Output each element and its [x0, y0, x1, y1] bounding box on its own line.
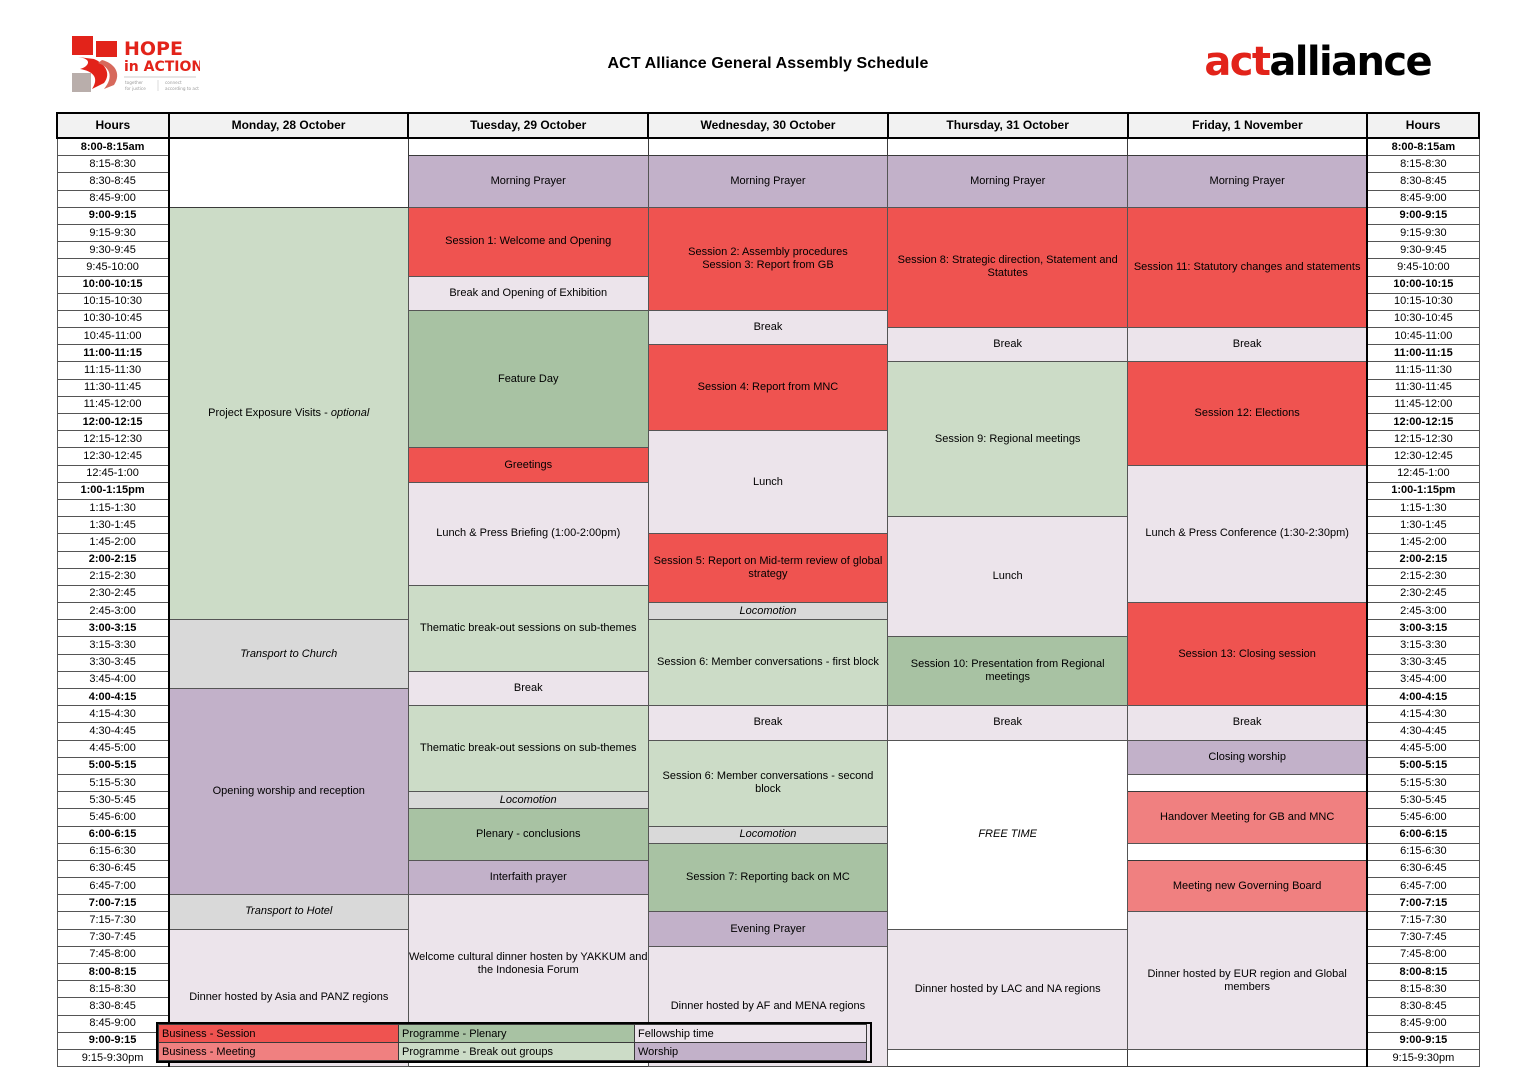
hour-label-right: 11:45-12:00 [1367, 396, 1479, 413]
event-cell[interactable]: Session 10: Presentation from Regional m… [888, 637, 1128, 706]
event-label: Interfaith prayer [409, 871, 648, 884]
hour-label-left: 3:00-3:15 [57, 620, 169, 637]
event-cell[interactable]: Opening worship and reception [169, 689, 409, 895]
event-label: Break [649, 321, 888, 334]
event-label: Thematic break-out sessions on sub-theme… [409, 742, 648, 755]
schedule-row: 8:00-8:15am8:00-8:15am [57, 138, 1479, 156]
hour-label-left: 5:30-5:45 [57, 792, 169, 809]
hour-label-right: 11:00-11:15 [1367, 345, 1479, 362]
legend-item-business-session: Business - Session [159, 1025, 399, 1043]
hour-label-left: 7:15-7:30 [57, 912, 169, 929]
hour-label-left: 7:45-8:00 [57, 946, 169, 963]
legend-item-programme-breakout: Programme - Break out groups [399, 1043, 635, 1061]
event-cell[interactable]: Locomotion [648, 826, 888, 843]
hour-label-right: 6:15-6:30 [1367, 843, 1479, 860]
empty-cell [408, 138, 648, 156]
event-label: Greetings [409, 459, 648, 472]
event-label: Morning Prayer [1128, 175, 1366, 188]
hour-label-left: 11:00-11:15 [57, 345, 169, 362]
hour-label-left: 11:30-11:45 [57, 379, 169, 396]
event-label: Session 1: Welcome and Opening [409, 235, 648, 248]
hour-label-left: 11:15-11:30 [57, 362, 169, 379]
hour-label-left: 3:15-3:30 [57, 637, 169, 654]
event-label: Session 6: Member conversations - second… [649, 770, 888, 796]
event-cell[interactable]: Thematic break-out sessions on sub-theme… [408, 585, 648, 671]
event-cell[interactable]: Handover Meeting for GB and MNC [1128, 792, 1368, 844]
hour-label-right: 1:45-2:00 [1367, 534, 1479, 551]
event-cell[interactable]: Session 4: Report from MNC [648, 345, 888, 431]
hour-label-left: 4:15-4:30 [57, 706, 169, 723]
hour-label-left: 10:45-11:00 [57, 328, 169, 345]
hour-label-right: 10:15-10:30 [1367, 293, 1479, 310]
hour-label-right: 10:00-10:15 [1367, 276, 1479, 293]
empty-cell [648, 138, 888, 156]
hour-label-left: 6:45-7:00 [57, 878, 169, 895]
event-cell[interactable]: Lunch & Press Briefing (1:00-2:00pm) [408, 482, 648, 585]
event-label: Lunch [649, 476, 888, 489]
hour-label-left: 8:45-9:00 [57, 1015, 169, 1032]
event-label: Session 4: Report from MNC [649, 381, 888, 394]
hour-label-left: 1:00-1:15pm [57, 482, 169, 499]
column-header-day-2: Tuesday, 29 October [408, 113, 648, 138]
hour-label-left: 8:00-8:15am [57, 138, 169, 156]
hour-label-right: 5:00-5:15 [1367, 757, 1479, 774]
schedule-table: HoursMonday, 28 OctoberTuesday, 29 Octob… [56, 112, 1480, 1067]
act-alliance-logo-alliance: alliance [1269, 39, 1431, 85]
event-cell[interactable]: Thematic break-out sessions on sub-theme… [408, 706, 648, 792]
event-label: Locomotion [409, 794, 648, 807]
event-cell[interactable]: Lunch [648, 431, 888, 534]
hour-label-right: 7:15-7:30 [1367, 912, 1479, 929]
event-cell[interactable]: Greetings [408, 448, 648, 482]
event-label: Transport to Church [170, 648, 408, 661]
event-cell[interactable]: Transport to Church [169, 620, 409, 689]
hour-label-right: 4:00-4:15 [1367, 689, 1479, 706]
hour-label-left: 5:45-6:00 [57, 809, 169, 826]
hour-label-left: 9:00-9:15 [57, 207, 169, 224]
event-cell[interactable]: Welcome cultural dinner hosten by YAKKUM… [408, 895, 648, 1033]
hour-label-right: 9:00-9:15 [1367, 1032, 1479, 1049]
hour-label-left: 5:00-5:15 [57, 757, 169, 774]
event-label: Locomotion [649, 605, 888, 618]
legend-item-worship: Worship [635, 1043, 867, 1061]
event-label: Session 10: Presentation from Regional m… [888, 658, 1127, 684]
hour-label-right: 8:45-9:00 [1367, 1015, 1479, 1032]
event-label: Session 2: Assembly proceduresSession 3:… [649, 246, 888, 272]
event-cell[interactable]: Session 5: Report on Mid-term review of … [648, 534, 888, 603]
hour-label-right: 2:15-2:30 [1367, 568, 1479, 585]
event-cell[interactable]: Break [888, 706, 1128, 740]
event-label: Dinner hosted by LAC and NA regions [888, 983, 1127, 996]
event-label: Transport to Hotel [170, 905, 408, 918]
legend-item-fellowship: Fellowship time [635, 1025, 867, 1043]
empty-cell [888, 1049, 1128, 1066]
hour-label-left: 6:00-6:15 [57, 826, 169, 843]
hour-label-right: 8:15-8:30 [1367, 156, 1479, 173]
event-label: FREE TIME [888, 828, 1127, 841]
hour-label-right: 2:00-2:15 [1367, 551, 1479, 568]
hour-label-left: 10:00-10:15 [57, 276, 169, 293]
hour-label-right: 12:00-12:15 [1367, 414, 1479, 431]
hour-label-left: 8:30-8:45 [57, 173, 169, 190]
event-cell[interactable]: Session 13: Closing session [1128, 603, 1368, 706]
hour-label-left: 7:30-7:45 [57, 929, 169, 946]
event-label: Session 5: Report on Mid-term review of … [649, 555, 888, 581]
event-cell[interactable]: Break [1128, 706, 1368, 740]
event-cell[interactable]: Project Exposure Visits - optional [169, 207, 409, 620]
hour-label-left: 2:45-3:00 [57, 603, 169, 620]
hour-label-left: 12:15-12:30 [57, 431, 169, 448]
event-label: Lunch & Press Conference (1:30-2:30pm) [1128, 527, 1366, 540]
event-cell[interactable]: Session 6: Member conversations - first … [648, 620, 888, 706]
hour-label-left: 1:15-1:30 [57, 499, 169, 516]
hour-label-right: 9:15-9:30 [1367, 224, 1479, 241]
hour-label-right: 1:00-1:15pm [1367, 482, 1479, 499]
event-cell[interactable]: Interfaith prayer [408, 860, 648, 894]
event-cell[interactable]: Morning Prayer [1128, 156, 1368, 208]
hour-label-left: 4:30-4:45 [57, 723, 169, 740]
hour-label-right: 12:30-12:45 [1367, 448, 1479, 465]
event-label: Meeting new Governing Board [1128, 880, 1366, 893]
event-cell[interactable]: Evening Prayer [648, 912, 888, 946]
event-label: Thematic break-out sessions on sub-theme… [409, 622, 648, 635]
event-cell[interactable]: Session 9: Regional meetings [888, 362, 1128, 517]
column-header-hours-left: Hours [57, 113, 169, 138]
hour-label-right: 10:45-11:00 [1367, 328, 1479, 345]
hour-label-right: 4:15-4:30 [1367, 706, 1479, 723]
hour-label-right: 5:15-5:30 [1367, 774, 1479, 791]
hour-label-right: 6:30-6:45 [1367, 860, 1479, 877]
svg-text:for justice: for justice [125, 86, 146, 91]
hour-label-left: 3:30-3:45 [57, 654, 169, 671]
event-cell[interactable]: Break [1128, 328, 1368, 362]
hour-label-right: 8:00-8:15 [1367, 964, 1479, 981]
empty-cell [1128, 774, 1368, 791]
hour-label-left: 2:00-2:15 [57, 551, 169, 568]
hour-label-right: 6:00-6:15 [1367, 826, 1479, 843]
event-label: Dinner hosted by AF and MENA regions [649, 1000, 888, 1013]
event-label: Locomotion [649, 828, 888, 841]
schedule-header-row: HoursMonday, 28 OctoberTuesday, 29 Octob… [57, 113, 1479, 138]
hour-label-right: 8:30-8:45 [1367, 173, 1479, 190]
hour-label-left: 12:00-12:15 [57, 414, 169, 431]
hour-label-right: 12:45-1:00 [1367, 465, 1479, 482]
column-header-day-3: Wednesday, 30 October [648, 113, 888, 138]
schedule-table-body: 8:00-8:15am8:00-8:15am8:15-8:30Morning P… [57, 138, 1479, 1067]
event-label: Break [1128, 338, 1366, 351]
svg-text:according to act: according to act [165, 86, 199, 91]
hour-label-right: 7:45-8:00 [1367, 946, 1479, 963]
hour-label-right: 12:15-12:30 [1367, 431, 1479, 448]
event-label: Session 9: Regional meetings [888, 433, 1127, 446]
event-cell[interactable]: Lunch [888, 517, 1128, 637]
legend-row: Business - SessionProgramme - PlenaryFel… [159, 1025, 867, 1043]
column-header-day-5: Friday, 1 November [1128, 113, 1368, 138]
hour-label-right: 10:30-10:45 [1367, 310, 1479, 327]
event-cell[interactable]: Morning Prayer [888, 156, 1128, 208]
hour-label-right: 9:00-9:15 [1367, 207, 1479, 224]
hour-label-right: 2:30-2:45 [1367, 585, 1479, 602]
hour-label-left: 11:45-12:00 [57, 396, 169, 413]
event-label: Morning Prayer [409, 175, 648, 188]
event-cell[interactable]: Locomotion [648, 603, 888, 620]
hour-label-right: 8:30-8:45 [1367, 998, 1479, 1015]
hour-label-left: 9:45-10:00 [57, 259, 169, 276]
legend-row: Business - MeetingProgramme - Break out … [159, 1043, 867, 1061]
hour-label-right: 6:45-7:00 [1367, 878, 1479, 895]
event-label: Closing worship [1128, 751, 1366, 764]
event-cell[interactable]: Session 12: Elections [1128, 362, 1368, 465]
event-label: Dinner hosted by Asia and PANZ regions [170, 991, 408, 1004]
hour-label-left: 9:30-9:45 [57, 242, 169, 259]
column-header-day-1: Monday, 28 October [169, 113, 409, 138]
event-label: Morning Prayer [888, 175, 1127, 188]
hour-label-right: 3:15-3:30 [1367, 637, 1479, 654]
hour-label-left: 2:30-2:45 [57, 585, 169, 602]
event-label: Session 12: Elections [1128, 407, 1366, 420]
hour-label-left: 8:45-9:00 [57, 190, 169, 207]
hour-label-left: 6:15-6:30 [57, 843, 169, 860]
hour-label-right: 7:30-7:45 [1367, 929, 1479, 946]
event-label: Session 6: Member conversations - first … [649, 656, 888, 669]
event-label: Session 11: Statutory changes and statem… [1128, 261, 1366, 274]
hour-label-left: 4:45-5:00 [57, 740, 169, 757]
event-label: Break and Opening of Exhibition [409, 287, 648, 300]
event-cell[interactable]: Morning Prayer [648, 156, 888, 208]
hour-label-right: 1:15-1:30 [1367, 499, 1479, 516]
legend-item-programme-plenary: Programme - Plenary [399, 1025, 635, 1043]
hour-label-right: 11:15-11:30 [1367, 362, 1479, 379]
hour-label-right: 4:30-4:45 [1367, 723, 1479, 740]
hour-label-left: 8:15-8:30 [57, 156, 169, 173]
hour-label-left: 3:45-4:00 [57, 671, 169, 688]
event-label: Project Exposure Visits - optional [170, 407, 408, 420]
schedule-grid: HoursMonday, 28 OctoberTuesday, 29 Octob… [56, 112, 1480, 1067]
hour-label-left: 12:30-12:45 [57, 448, 169, 465]
hour-label-right: 3:00-3:15 [1367, 620, 1479, 637]
event-cell[interactable]: Dinner hosted by LAC and NA regions [888, 929, 1128, 1049]
hour-label-right: 9:45-10:00 [1367, 259, 1479, 276]
event-label: Plenary - conclusions [409, 828, 648, 841]
event-cell[interactable]: Locomotion [408, 792, 648, 809]
event-label: Morning Prayer [649, 175, 888, 188]
event-cell[interactable]: Transport to Hotel [169, 895, 409, 929]
event-cell[interactable]: Break [888, 328, 1128, 362]
empty-cell [1128, 843, 1368, 860]
legend-item-business-meeting: Business - Meeting [159, 1043, 399, 1061]
event-cell[interactable]: FREE TIME [888, 740, 1128, 929]
event-cell[interactable]: Session 11: Statutory changes and statem… [1128, 207, 1368, 327]
schedule-row: 9:00-9:15Project Exposure Visits - optio… [57, 207, 1479, 224]
event-label: Session 7: Reporting back on MC [649, 871, 888, 884]
event-cell[interactable]: Morning Prayer [408, 156, 648, 208]
event-label: Lunch [888, 570, 1127, 583]
event-cell[interactable]: Session 2: Assembly proceduresSession 3:… [648, 207, 888, 310]
event-label: Break [409, 682, 648, 695]
event-label: Break [888, 716, 1127, 729]
event-label: Evening Prayer [649, 923, 888, 936]
column-header-hours-right: Hours [1367, 113, 1479, 138]
event-cell[interactable]: Dinner hosted by EUR region and Global m… [1128, 912, 1368, 1050]
hour-label-left: 1:45-2:00 [57, 534, 169, 551]
hour-label-left: 9:00-9:15 [57, 1032, 169, 1049]
act-alliance-logo-act: act [1204, 39, 1269, 85]
hour-label-left: 10:30-10:45 [57, 310, 169, 327]
hour-label-right: 2:45-3:00 [1367, 603, 1479, 620]
hour-label-right: 9:30-9:45 [1367, 242, 1479, 259]
event-label: Break [888, 338, 1127, 351]
event-label: Session 13: Closing session [1128, 648, 1366, 661]
empty-cell [888, 138, 1128, 156]
hour-label-left: 8:00-8:15 [57, 964, 169, 981]
hour-label-left: 9:15-9:30 [57, 224, 169, 241]
empty-cell [1128, 138, 1368, 156]
legend-table: Business - SessionProgramme - PlenaryFel… [158, 1024, 867, 1061]
event-cell[interactable]: Closing worship [1128, 740, 1368, 774]
event-label: Session 8: Strategic direction, Statemen… [888, 254, 1127, 280]
hour-label-right: 3:45-4:00 [1367, 671, 1479, 688]
hour-label-left: 10:15-10:30 [57, 293, 169, 310]
event-cell[interactable]: Session 6: Member conversations - second… [648, 740, 888, 826]
hour-label-right: 7:00-7:15 [1367, 895, 1479, 912]
event-cell[interactable]: Session 1: Welcome and Opening [408, 207, 648, 276]
hour-label-right: 1:30-1:45 [1367, 517, 1479, 534]
event-label: Feature Day [409, 373, 648, 386]
svg-text:connect: connect [165, 80, 182, 85]
event-cell[interactable]: Session 7: Reporting back on MC [648, 843, 888, 912]
hour-label-left: 4:00-4:15 [57, 689, 169, 706]
hour-label-left: 8:30-8:45 [57, 998, 169, 1015]
hour-label-left: 6:30-6:45 [57, 860, 169, 877]
event-label: Welcome cultural dinner hosten by YAKKUM… [409, 951, 648, 977]
event-cell[interactable]: Meeting new Governing Board [1128, 860, 1368, 912]
hour-label-left: 2:15-2:30 [57, 568, 169, 585]
column-header-day-4: Thursday, 31 October [888, 113, 1128, 138]
hour-label-right: 4:45-5:00 [1367, 740, 1479, 757]
event-label: Break [1128, 716, 1366, 729]
event-label: Break [649, 716, 888, 729]
event-cell[interactable]: Break and Opening of Exhibition [408, 276, 648, 310]
hour-label-left: 5:15-5:30 [57, 774, 169, 791]
hour-label-right: 8:45-9:00 [1367, 190, 1479, 207]
event-label: Handover Meeting for GB and MNC [1128, 811, 1366, 824]
event-cell[interactable]: Session 8: Strategic direction, Statemen… [888, 207, 1128, 327]
act-alliance-logo: actalliance [1204, 42, 1431, 82]
event-label: Lunch & Press Briefing (1:00-2:00pm) [409, 527, 648, 540]
event-cell[interactable]: Feature Day [408, 310, 648, 448]
hour-label-right: 5:45-6:00 [1367, 809, 1479, 826]
hour-label-left: 1:30-1:45 [57, 517, 169, 534]
event-label: Dinner hosted by EUR region and Global m… [1128, 968, 1366, 994]
event-cell[interactable]: Plenary - conclusions [408, 809, 648, 861]
hour-label-left: 9:15-9:30pm [57, 1049, 169, 1066]
schedule-table-header: HoursMonday, 28 OctoberTuesday, 29 Octob… [57, 113, 1479, 138]
hour-label-right: 8:00-8:15am [1367, 138, 1479, 156]
empty-cell [169, 138, 409, 207]
hour-label-right: 11:30-11:45 [1367, 379, 1479, 396]
event-cell[interactable]: Break [648, 310, 888, 344]
legend: Business - SessionProgramme - PlenaryFel… [156, 1022, 872, 1063]
hour-label-left: 8:15-8:30 [57, 981, 169, 998]
event-cell[interactable]: Break [408, 671, 648, 705]
hour-label-right: 3:30-3:45 [1367, 654, 1479, 671]
empty-cell [1128, 1049, 1368, 1066]
svg-text:together: together [125, 80, 143, 85]
hour-label-right: 5:30-5:45 [1367, 792, 1479, 809]
hour-label-left: 7:00-7:15 [57, 895, 169, 912]
schedule-page: HOPE in ACTION together for justice conn… [0, 0, 1536, 1087]
event-cell[interactable]: Break [648, 706, 888, 740]
event-label: Opening worship and reception [170, 785, 408, 798]
event-cell[interactable]: Lunch & Press Conference (1:30-2:30pm) [1128, 465, 1368, 603]
hour-label-right: 9:15-9:30pm [1367, 1049, 1479, 1066]
hour-label-right: 8:15-8:30 [1367, 981, 1479, 998]
legend-body: Business - SessionProgramme - PlenaryFel… [159, 1025, 867, 1061]
page-header: HOPE in ACTION together for justice conn… [0, 0, 1536, 110]
hour-label-left: 12:45-1:00 [57, 465, 169, 482]
